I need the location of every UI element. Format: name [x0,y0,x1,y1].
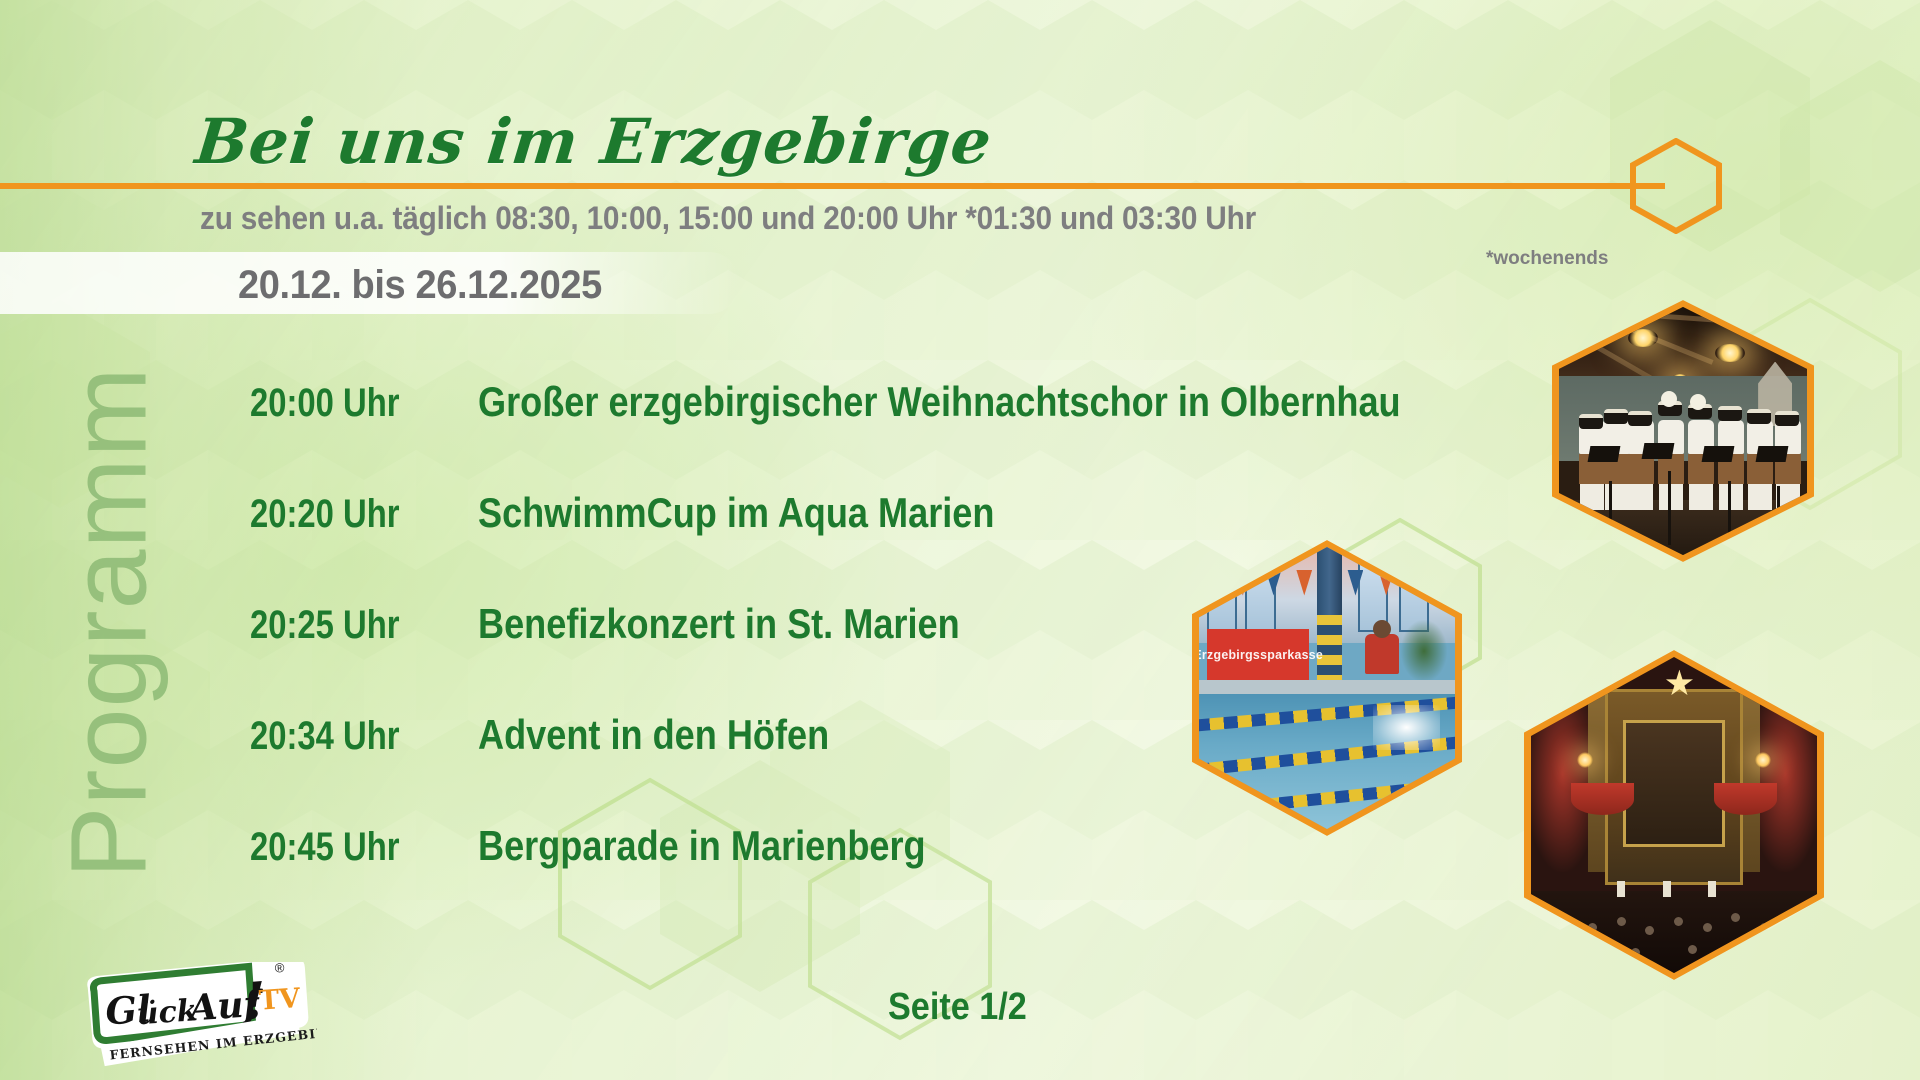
weekend-footnote: *wochenends [1486,248,1608,270]
program-title: Benefizkonzert in St. Marien [478,600,960,648]
svg-text:TV: TV [258,983,302,1017]
svg-text:®: ® [274,962,285,976]
date-range-label: 20.12. bis 26.12.2025 [238,263,602,308]
program-time: 20:34 Uhr [250,714,437,759]
glueckauf-tv-logo[interactable]: Gl ück Auf ! TV ® FERNSEHEN IM ERZGEBIRG… [82,962,317,1070]
pool-sponsor-banner-text: Erzgebirgssparkasse [1199,647,1323,662]
program-time: 20:20 Uhr [250,492,437,537]
page-indicator: Seite 1/2 [888,986,1027,1029]
program-time: 20:25 Uhr [250,603,437,648]
program-time: 20:00 Uhr [250,381,437,426]
program-slide: Bei uns im Erzgebirge zu sehen u.a. tägl… [0,0,1920,1080]
orange-hexagon-icon [1630,138,1722,234]
program-title: Großer erzgebirgischer Weihnachtschor in… [478,378,1401,426]
broadcast-times-subtitle: zu sehen u.a. täglich 08:30, 10:00, 15:0… [200,200,1256,237]
pool-sponsor-banner: Erzgebirgssparkasse [1207,629,1309,680]
program-title: Advent in den Höfen [478,711,829,759]
page-title: Bei uns im Erzgebirge [192,105,995,178]
program-title: Bergparade in Marienberg [478,822,926,870]
program-title: SchwimmCup im Aqua Marien [478,489,994,537]
list-item: 20:00 Uhr Großer erzgebirgischer Weihnac… [250,378,1570,489]
program-time: 20:45 Uhr [250,825,437,870]
list-item: 20:45 Uhr Bergparade in Marienberg [250,822,1570,933]
orange-divider-rule [0,183,1665,189]
